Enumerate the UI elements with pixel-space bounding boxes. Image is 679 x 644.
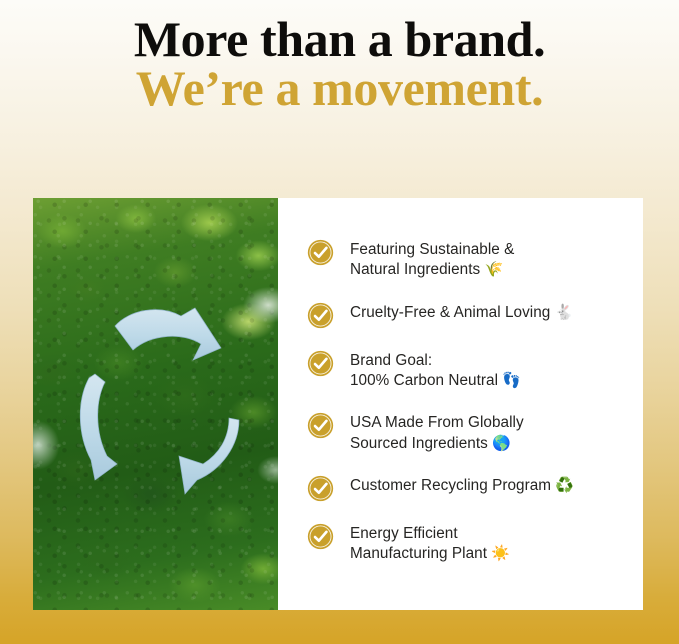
benefits-card: Featuring Sustainable & Natural Ingredie… xyxy=(33,198,643,610)
list-item-line: Featuring Sustainable & xyxy=(350,241,514,258)
list-item-line: Cruelty-Free & Animal Loving xyxy=(350,304,550,321)
list-item-line: Energy Efficient xyxy=(350,525,458,542)
check-circle-icon xyxy=(307,302,334,329)
list-item-text: Customer Recycling Program ♻️ xyxy=(350,474,574,496)
list-item-line: Customer Recycling Program xyxy=(350,477,551,494)
list-item-text: Featuring Sustainable & Natural Ingredie… xyxy=(350,238,514,281)
check-circle-icon xyxy=(307,412,334,439)
list-item: Brand Goal: 100% Carbon Neutral 👣 xyxy=(307,349,625,392)
sun-icon: ☀️ xyxy=(491,545,510,562)
list-item-line: Sourced Ingredients xyxy=(350,435,488,452)
globe-icon: 🌎 xyxy=(492,435,511,452)
list-item-line: Brand Goal: xyxy=(350,352,432,369)
recycling-symbol-icon: ♻️ xyxy=(555,477,574,494)
list-item-line: USA Made From Globally xyxy=(350,414,524,431)
check-circle-icon xyxy=(307,475,334,502)
check-circle-icon xyxy=(307,239,334,266)
list-item: USA Made From Globally Sourced Ingredien… xyxy=(307,411,625,454)
rabbit-icon: 🐇 xyxy=(555,304,574,321)
recycle-lakes-icon xyxy=(33,198,278,610)
headline-line-2: We’re a movement. xyxy=(0,63,679,114)
list-item-text: Energy Efficient Manufacturing Plant ☀️ xyxy=(350,522,510,565)
list-item-line: Manufacturing Plant xyxy=(350,545,487,562)
page-title: More than a brand. We’re a movement. xyxy=(0,14,679,114)
list-item-text: Cruelty-Free & Animal Loving 🐇 xyxy=(350,301,573,323)
benefits-list: Featuring Sustainable & Natural Ingredie… xyxy=(278,198,643,610)
headline-line-1: More than a brand. xyxy=(0,14,679,65)
list-item-line: 100% Carbon Neutral xyxy=(350,372,498,389)
list-item: Cruelty-Free & Animal Loving 🐇 xyxy=(307,301,625,329)
list-item: Featuring Sustainable & Natural Ingredie… xyxy=(307,238,625,281)
check-circle-icon xyxy=(307,350,334,377)
forest-recycle-photo xyxy=(33,198,278,610)
footprints-icon: 👣 xyxy=(502,372,521,389)
check-circle-icon xyxy=(307,523,334,550)
list-item: Energy Efficient Manufacturing Plant ☀️ xyxy=(307,522,625,565)
list-item-text: Brand Goal: 100% Carbon Neutral 👣 xyxy=(350,349,521,392)
sheaf-of-rice-icon: 🌾 xyxy=(485,261,504,278)
list-item-line: Natural Ingredients xyxy=(350,261,480,278)
list-item-text: USA Made From Globally Sourced Ingredien… xyxy=(350,411,524,454)
list-item: Customer Recycling Program ♻️ xyxy=(307,474,625,502)
promo-banner: More than a brand. We’re a movement. xyxy=(0,0,679,644)
